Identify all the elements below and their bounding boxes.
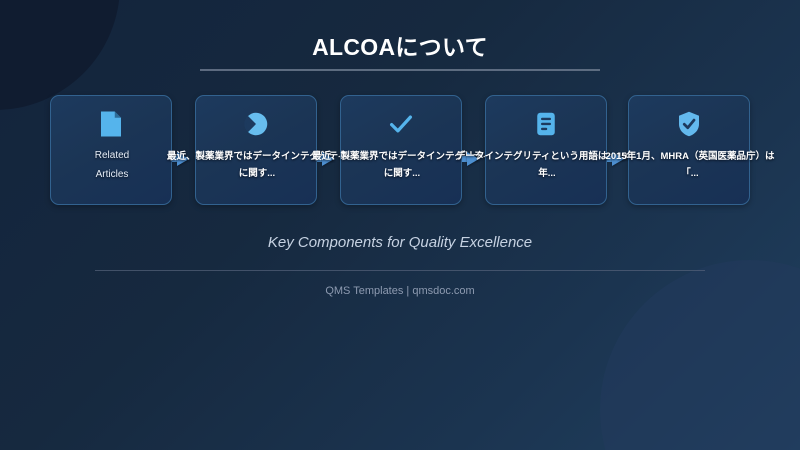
- card-row: Related Articles 最近、製薬業界ではデータインテグリティに関す.…: [50, 95, 750, 205]
- slide-canvas: ALCOAについて Related Articles: [0, 0, 800, 450]
- pie-chart-icon: [241, 109, 271, 139]
- subtitle: Key Components for Quality Excellence: [0, 234, 800, 251]
- list-document-icon: [531, 109, 561, 139]
- page-title: ALCOAについて: [0, 28, 800, 62]
- card-1-text: Related Articles: [51, 146, 173, 184]
- shield-check-icon: [674, 109, 704, 139]
- card-4[interactable]: データインテグリティという用語は、1997年...: [485, 95, 607, 205]
- footer-divider: [95, 270, 705, 271]
- card-5-text: 2015年1月、MHRA（英国医薬品庁）は「...: [597, 148, 783, 182]
- document-icon: [96, 109, 126, 139]
- card-3[interactable]: 最近、製薬業界ではデータインテグリティに関す...: [340, 95, 462, 205]
- card-5[interactable]: 2015年1月、MHRA（英国医薬品庁）は「...: [628, 95, 750, 205]
- card-2[interactable]: 最近、製薬業界ではデータインテグリティに関す...: [195, 95, 317, 205]
- card-1[interactable]: Related Articles: [50, 95, 172, 205]
- title-divider: [200, 69, 600, 71]
- check-icon: [386, 109, 416, 139]
- footer-credit: QMS Templates | qmsdoc.com: [0, 285, 800, 297]
